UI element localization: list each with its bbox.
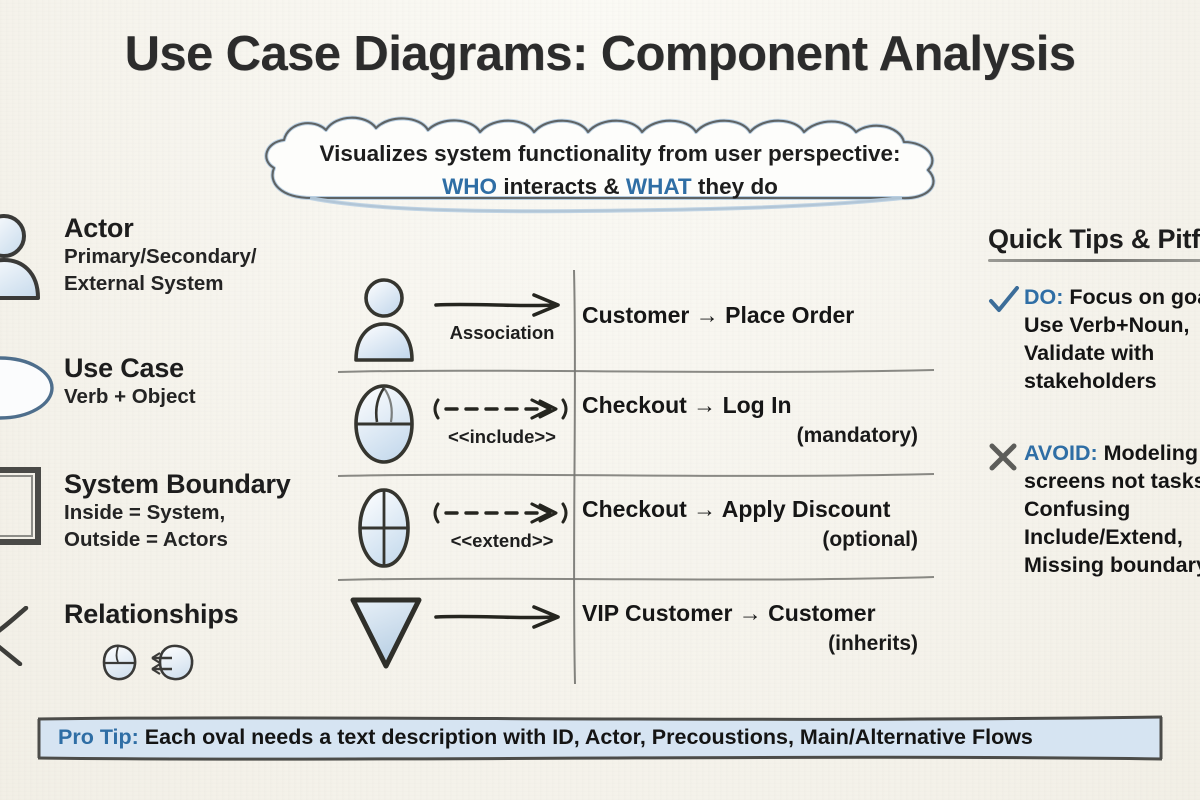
table-row: Association Customer → Place Order [336, 268, 936, 372]
cloud-text: Visualizes system functionality from use… [290, 138, 930, 203]
tip-do-line-0: DO: Focus on goals, [1024, 284, 1200, 312]
solid-arrow-icon [432, 602, 572, 632]
example-main-text: Checkout → Log In [582, 392, 936, 419]
tip-avoid-text: AVOID: Modeling UI screens not tasks, Co… [1024, 440, 1200, 580]
generalization-triangle-icon [344, 580, 430, 684]
table-row: <<extend>> Checkout → Apply Discount (op… [336, 476, 936, 580]
use-case-oval-icon: ace der [0, 350, 62, 431]
relationship-label: Association [432, 322, 572, 344]
legend-actor-sub1: Primary/Secondary/ [64, 244, 257, 269]
relationship-label: <<extend>> [426, 530, 578, 552]
actor-person-icon [344, 268, 430, 372]
page-title: Use Case Diagrams: Component Analysis [0, 26, 1200, 82]
example-cell: Customer → Place Order [582, 268, 936, 372]
legend-system-boundary-title: System Boundary [64, 470, 291, 498]
who-keyword: WHO [442, 174, 497, 199]
cloud-mid-text: interacts & [497, 174, 626, 199]
relationship-mini-ovals-icon [94, 642, 214, 689]
dashed-open-arrow-icon [432, 394, 572, 424]
legend-actor-title: Actor [64, 214, 257, 242]
association-relationship-cell: Association [432, 268, 572, 372]
extend-relationship-cell: <<extend>> [432, 476, 572, 580]
system-boundary-rect-icon [0, 464, 66, 553]
legend-use-case-text: Use Case Verb + Object [64, 354, 196, 409]
pro-tip-keyword: Pro Tip: [58, 725, 139, 749]
tip-do-line-1: Use Verb+Noun, [1024, 312, 1200, 340]
tip-do-line-0-rest: Focus on goals, [1063, 285, 1200, 309]
do-keyword: DO: [1024, 285, 1063, 309]
example-cell: Checkout → Log In (mandatory) [582, 372, 936, 476]
relationship-table: Association Customer → Place Order [336, 268, 936, 686]
cloud-post-text: they do [692, 174, 778, 199]
cloud-line-2: WHO interacts & WHAT they do [290, 171, 930, 204]
example-main-text: VIP Customer → Customer [582, 600, 936, 627]
example-sub-text: (inherits) [582, 632, 936, 656]
example-cell: Checkout → Apply Discount (optional) [582, 476, 936, 580]
cross-icon [988, 442, 1020, 472]
solid-arrow-icon [432, 290, 572, 320]
tip-avoid-line-0-rest: Modeling UI [1098, 441, 1200, 465]
dashed-open-arrow-icon [432, 498, 572, 528]
tip-do-line-3: stakeholders [1024, 368, 1200, 396]
tips-divider [988, 259, 1200, 262]
cloud-callout: Visualizes system functionality from use… [250, 112, 970, 224]
legend-system-boundary-text: System Boundary Inside = System, Outside… [64, 470, 291, 552]
legend-system-boundary-sub2: Outside = Actors [64, 527, 291, 552]
tip-do-text: DO: Focus on goals, Use Verb+Noun, Valid… [1024, 284, 1200, 396]
example-main-text: Customer → Place Order [582, 302, 936, 329]
tips-heading: Quick Tips & Pitfalls [988, 224, 1200, 255]
example-sub-text: (optional) [582, 528, 936, 552]
tip-avoid-line-4: Missing boundary [1024, 552, 1200, 580]
example-cell: VIP Customer → Customer (inherits) [582, 580, 936, 684]
example-main-text: Checkout → Apply Discount [582, 496, 936, 523]
tip-avoid-line-0: AVOID: Modeling UI [1024, 440, 1200, 468]
legend-use-case-title: Use Case [64, 354, 196, 382]
pro-tip-banner: Pro Tip: Each oval needs a text descript… [36, 714, 1164, 762]
tip-avoid-line-3: Include/Extend, [1024, 524, 1200, 552]
cloud-line-1: Visualizes system functionality from use… [290, 138, 930, 171]
relationship-arrow-icon [0, 606, 56, 671]
actor-person-icon [0, 214, 62, 305]
include-relationship-cell: <<include>> [432, 372, 572, 476]
legend-relationships-title: Relationships [64, 600, 238, 628]
pro-tip-body: Each oval needs a text description with … [139, 725, 1033, 749]
legend-actor-sub2: External System [64, 271, 257, 296]
tips-panel: Quick Tips & Pitfalls DO: Focus on goals… [988, 224, 1200, 262]
relationship-label: <<include>> [426, 426, 578, 448]
check-icon [988, 286, 1020, 316]
use-case-oval-include-icon [344, 372, 430, 476]
legend-system-boundary-sub1: Inside = System, [64, 500, 291, 525]
legend-relationships-text: Relationships [64, 600, 238, 628]
pro-tip-text: Pro Tip: Each oval needs a text descript… [58, 725, 1033, 750]
use-case-oval-extend-icon [344, 476, 430, 580]
tip-avoid-line-2: Confusing [1024, 496, 1200, 524]
example-sub-text: (mandatory) [582, 424, 936, 448]
what-keyword: WHAT [626, 174, 692, 199]
legend-use-case-sub1: Verb + Object [64, 384, 196, 409]
table-row: <<include>> Checkout → Log In (mandatory… [336, 372, 936, 476]
avoid-keyword: AVOID: [1024, 441, 1098, 465]
generalization-relationship-cell [432, 580, 572, 684]
tip-do-line-2: Validate with [1024, 340, 1200, 368]
table-row: VIP Customer → Customer (inherits) [336, 580, 936, 684]
legend-actor-text: Actor Primary/Secondary/ External System [64, 214, 257, 296]
tip-avoid-line-1: screens not tasks, [1024, 468, 1200, 496]
